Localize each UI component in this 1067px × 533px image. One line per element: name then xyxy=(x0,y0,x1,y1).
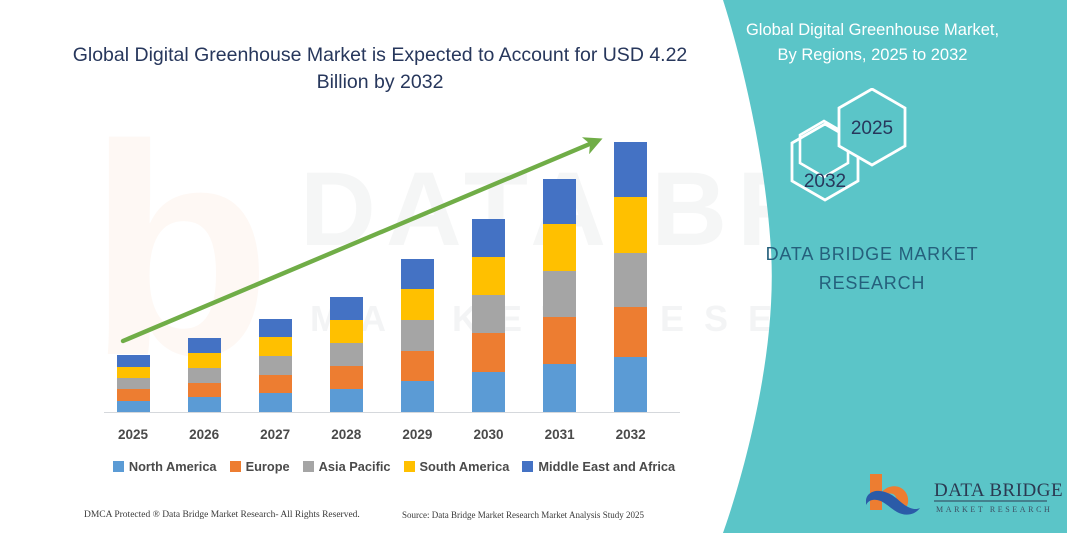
bar-segment-europe[interactable] xyxy=(401,351,434,382)
footer-source: Source: Data Bridge Market Research Mark… xyxy=(402,510,644,520)
bar-segment-asia-pacific[interactable] xyxy=(472,295,505,334)
x-axis-label-2032: 2032 xyxy=(601,427,661,442)
x-axis-line xyxy=(104,412,680,413)
bar-segment-middle-east-and-africa[interactable] xyxy=(259,319,292,338)
chart-plot-area: 20252026202720282029203020312032 xyxy=(0,0,700,533)
footer-copyright: DMCA Protected ® Data Bridge Market Rese… xyxy=(84,510,360,520)
bar-segment-asia-pacific[interactable] xyxy=(543,271,576,317)
bar-segment-south-america[interactable] xyxy=(330,320,363,343)
bar-segment-north-america[interactable] xyxy=(259,393,292,412)
bar-2027[interactable] xyxy=(259,319,292,412)
bar-segment-south-america[interactable] xyxy=(614,197,647,253)
bar-segment-middle-east-and-africa[interactable] xyxy=(117,355,150,367)
bar-segment-middle-east-and-africa[interactable] xyxy=(543,179,576,224)
bar-segment-asia-pacific[interactable] xyxy=(117,378,150,389)
bar-segment-middle-east-and-africa[interactable] xyxy=(401,259,434,289)
bar-segment-middle-east-and-africa[interactable] xyxy=(188,338,221,353)
bar-2029[interactable] xyxy=(401,259,434,412)
bar-2025[interactable] xyxy=(117,355,150,412)
bar-2030[interactable] xyxy=(472,219,505,412)
teal-side-panel xyxy=(667,0,1067,533)
bar-segment-south-america[interactable] xyxy=(188,353,221,368)
bar-segment-europe[interactable] xyxy=(117,389,150,400)
bar-segment-europe[interactable] xyxy=(543,317,576,364)
bar-segment-europe[interactable] xyxy=(259,375,292,394)
x-axis-label-2028: 2028 xyxy=(316,427,376,442)
bar-segment-asia-pacific[interactable] xyxy=(401,320,434,351)
bar-segment-north-america[interactable] xyxy=(472,372,505,412)
bar-segment-asia-pacific[interactable] xyxy=(614,253,647,307)
x-axis-label-2030: 2030 xyxy=(459,427,519,442)
bar-segment-middle-east-and-africa[interactable] xyxy=(472,219,505,257)
bar-segment-south-america[interactable] xyxy=(543,224,576,271)
x-axis-label-2026: 2026 xyxy=(174,427,234,442)
x-axis-label-2027: 2027 xyxy=(245,427,305,442)
bar-segment-north-america[interactable] xyxy=(330,389,363,412)
bar-segment-south-america[interactable] xyxy=(259,337,292,356)
x-axis-label-2025: 2025 xyxy=(103,427,163,442)
bar-2026[interactable] xyxy=(188,338,221,412)
bar-segment-europe[interactable] xyxy=(472,333,505,372)
bar-segment-south-america[interactable] xyxy=(401,289,434,320)
bar-segment-europe[interactable] xyxy=(330,366,363,389)
bar-2032[interactable] xyxy=(614,142,647,412)
bar-segment-north-america[interactable] xyxy=(188,397,221,412)
bar-segment-middle-east-and-africa[interactable] xyxy=(614,142,647,197)
bar-2028[interactable] xyxy=(330,297,363,412)
x-axis-labels: 20252026202720282029203020312032 xyxy=(0,427,700,447)
bar-segment-north-america[interactable] xyxy=(614,357,647,412)
bar-segment-south-america[interactable] xyxy=(472,257,505,295)
bar-segment-north-america[interactable] xyxy=(117,401,150,412)
bar-segment-north-america[interactable] xyxy=(401,381,434,412)
x-axis-label-2029: 2029 xyxy=(387,427,447,442)
bar-segment-asia-pacific[interactable] xyxy=(259,356,292,375)
bar-segment-south-america[interactable] xyxy=(117,367,150,378)
bar-segment-north-america[interactable] xyxy=(543,364,576,412)
bar-segment-asia-pacific[interactable] xyxy=(188,368,221,383)
x-axis-label-2031: 2031 xyxy=(530,427,590,442)
bar-2031[interactable] xyxy=(543,179,576,412)
bar-segment-europe[interactable] xyxy=(614,307,647,357)
bar-segment-middle-east-and-africa[interactable] xyxy=(330,297,363,320)
bar-segment-asia-pacific[interactable] xyxy=(330,343,363,366)
bar-segment-europe[interactable] xyxy=(188,383,221,398)
infographic-canvas: b DATA BRIDGE MARKET RESEARCH Global Dig… xyxy=(0,0,1067,533)
